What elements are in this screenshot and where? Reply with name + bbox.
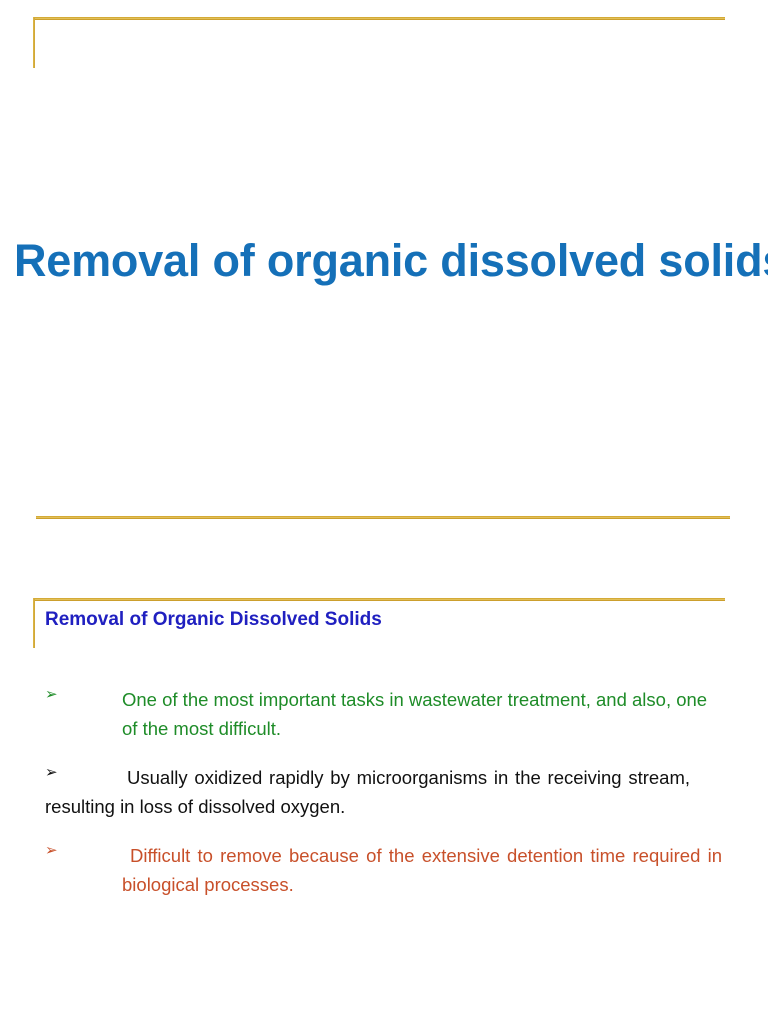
section-heading: Removal of Organic Dissolved Solids (45, 609, 382, 631)
gold-corner-rule-horizontal-icon (33, 17, 725, 20)
bullet-list: ➢ One of the most important tasks in was… (0, 685, 768, 919)
gold-corner-rule-vertical-icon (33, 17, 35, 68)
list-item-text: Usually oxidized rapidly by microorganis… (45, 763, 690, 821)
title-slide: Removal of organic dissolved solids (0, 0, 768, 560)
arrowhead-bullet-icon: ➢ (45, 765, 58, 780)
gold-corner-rule-horizontal-icon (33, 598, 725, 601)
gold-corner-rule-vertical-icon (33, 598, 35, 648)
list-item: ➢ One of the most important tasks in was… (0, 685, 768, 743)
list-item-text: One of the most important tasks in waste… (122, 685, 720, 743)
list-item: ➢ Usually oxidized rapidly by microorgan… (0, 763, 768, 821)
arrowhead-bullet-icon: ➢ (45, 843, 58, 858)
gold-horizontal-rule-icon (36, 516, 730, 519)
content-slide: Removal of Organic Dissolved Solids ➢ On… (0, 560, 768, 1024)
list-item-text: Difficult to remove because of the exten… (122, 841, 722, 899)
arrowhead-bullet-icon: ➢ (45, 687, 58, 702)
list-item: ➢ Difficult to remove because of the ext… (0, 841, 768, 899)
page-title: Removal of organic dissolved solids (14, 236, 759, 286)
